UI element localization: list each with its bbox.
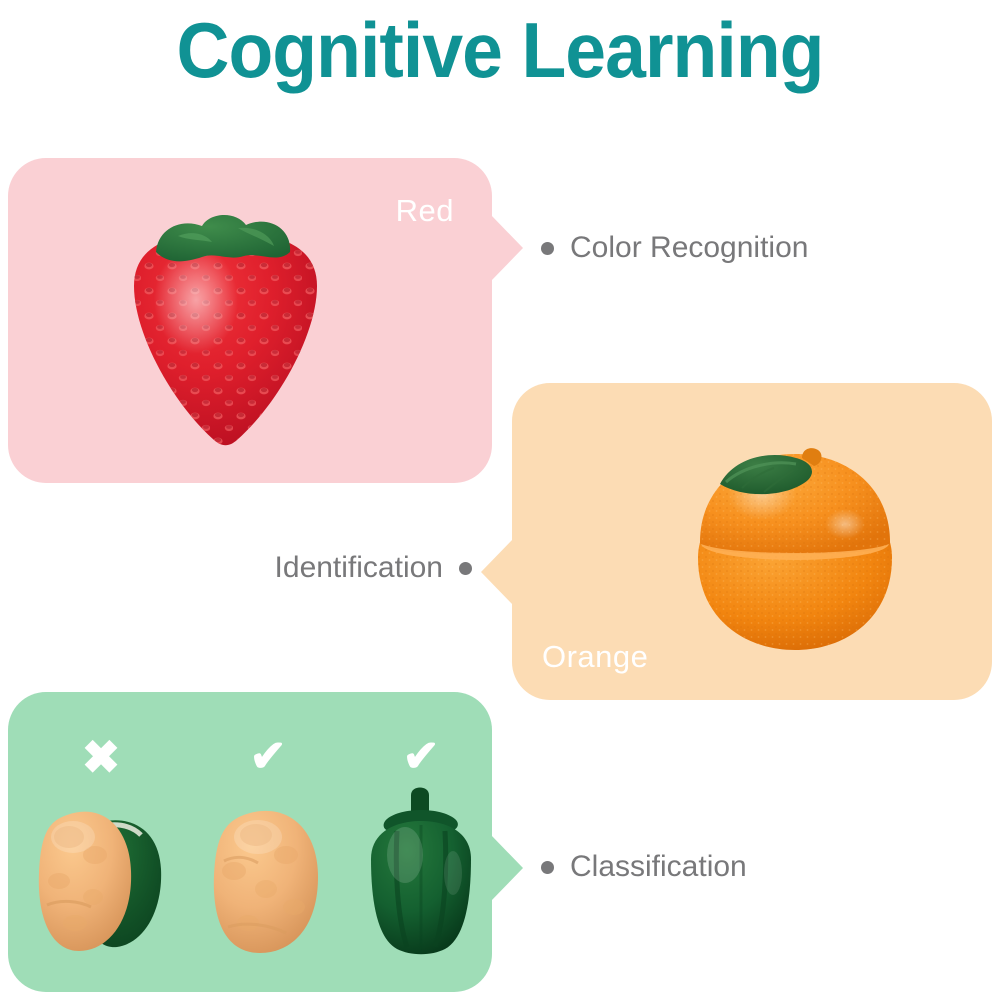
- card-green-tail: [491, 835, 523, 901]
- cross-mark-icon: ✖: [82, 735, 121, 779]
- check-mark-icon: ✔: [403, 735, 440, 779]
- classification-item-3: ✔: [353, 777, 489, 967]
- classification-item-1: ✖: [33, 777, 169, 967]
- page-title: Cognitive Learning: [30, 6, 970, 94]
- bullet-dot-icon: [459, 562, 472, 575]
- card-orange: Orange: [512, 383, 992, 700]
- potato-toy: [200, 777, 336, 967]
- card-orange-label: Orange: [542, 640, 648, 674]
- callout-identification-label: Identification: [275, 551, 443, 585]
- card-orange-tail: [481, 539, 513, 605]
- callout-color-recognition: Color Recognition: [541, 231, 808, 265]
- callout-classification-label: Classification: [570, 850, 747, 884]
- check-mark-icon: ✔: [250, 735, 287, 779]
- callout-identification: Identification: [275, 551, 472, 585]
- classification-item-2: ✔: [200, 777, 336, 967]
- card-green: ✖: [8, 692, 492, 992]
- bullet-dot-icon: [541, 242, 554, 255]
- orange-fruit-toy: [690, 436, 900, 658]
- callout-classification: Classification: [541, 850, 747, 884]
- card-red-label: Red: [396, 194, 454, 228]
- callout-color-recognition-label: Color Recognition: [570, 231, 808, 265]
- bullet-dot-icon: [541, 861, 554, 874]
- card-red-tail: [491, 215, 523, 281]
- green-pepper-toy: [353, 777, 489, 967]
- strawberry-toy: [118, 208, 333, 453]
- infographic-page: Cognitive Learning Red: [0, 0, 1000, 1000]
- potato-and-pepper-toy: [33, 777, 169, 967]
- card-red: Red: [8, 158, 492, 483]
